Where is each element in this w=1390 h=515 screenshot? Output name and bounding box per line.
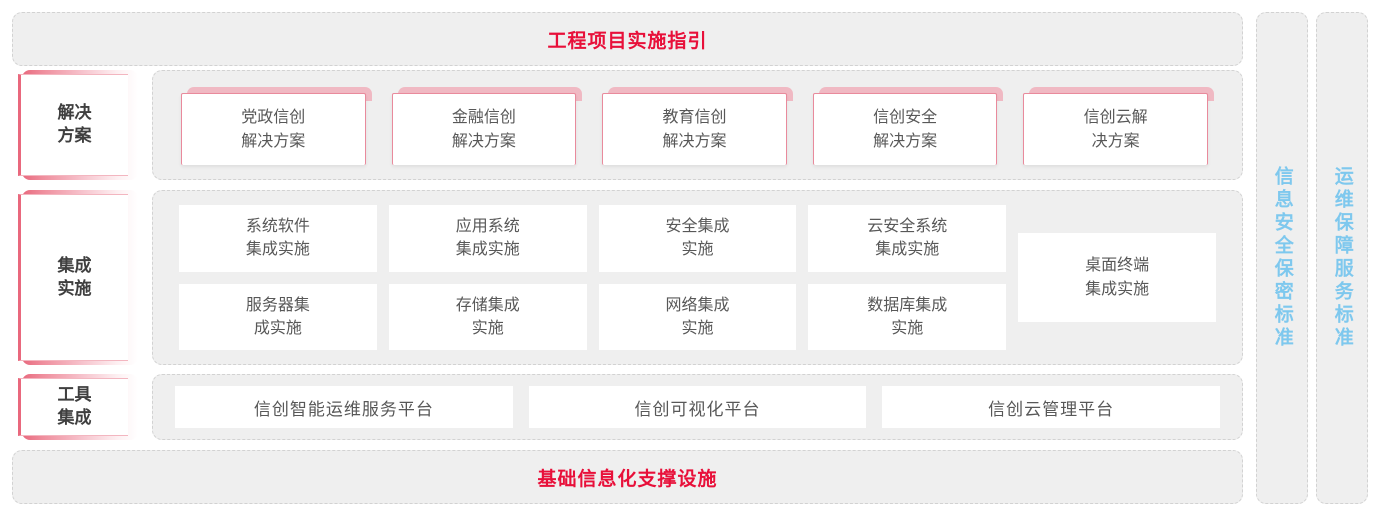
integration-cell[interactable]: 服务器集 成实施 [179, 284, 377, 351]
integration-cell[interactable]: 应用系统 集成实施 [389, 205, 587, 272]
stage-label-integration: 集成 实施 [18, 190, 138, 365]
stage-label-box: 工具 集成 [18, 378, 128, 436]
solution-card-body: 金融信创 解决方案 [392, 93, 577, 165]
stage-label-text: 解决 方案 [58, 102, 92, 148]
top-banner-title: 工程项目实施指引 [547, 26, 707, 53]
integration-column: 应用系统 集成实施 存储集成 实施 [389, 205, 587, 350]
stage-label-solution: 解决 方案 [18, 70, 138, 180]
tools-row: 信创智能运维服务平台 信创可视化平台 信创云管理平台 [175, 386, 1220, 428]
integration-cell[interactable]: 系统软件 集成实施 [179, 205, 377, 272]
stage-label-tools: 工具 集成 [18, 374, 138, 440]
stage-label-box: 解决 方案 [18, 74, 128, 176]
integration-cell-label: 网络集成 实施 [665, 294, 729, 340]
tool-platform-cell[interactable]: 信创可视化平台 [529, 386, 867, 428]
stage-label-text: 工具 集成 [58, 384, 92, 430]
solution-card-label: 党政信创 解决方案 [241, 106, 305, 152]
solution-card[interactable]: 金融信创 解决方案 [392, 87, 583, 165]
solution-card-body: 信创安全 解决方案 [813, 93, 998, 165]
integration-cell[interactable]: 数据库集成 实施 [808, 284, 1006, 351]
tool-platform-cell[interactable]: 信创智能运维服务平台 [175, 386, 513, 428]
solution-card[interactable]: 信创安全 解决方案 [813, 87, 1004, 165]
top-banner: 工程项目实施指引 [12, 12, 1243, 66]
integration-column: 系统软件 集成实施 服务器集 成实施 [179, 205, 377, 350]
integration-cell-desktop-terminal[interactable]: 桌面终端 集成实施 [1018, 233, 1216, 322]
integration-column: 安全集成 实施 网络集成 实施 [599, 205, 797, 350]
solution-card-label: 金融信创 解决方案 [452, 106, 516, 152]
tool-platform-label: 信创智能运维服务平台 [254, 395, 434, 420]
solution-card-label: 信创云解 决方案 [1084, 106, 1148, 152]
integration-cell-label: 存储集成 实施 [456, 294, 520, 340]
solution-card-body: 教育信创 解决方案 [602, 93, 787, 165]
solutions-panel: 党政信创 解决方案 金融信创 解决方案 教育信创 解决方案 信创安全 解决方案 [152, 70, 1243, 180]
diagram-root: 工程项目实施指引 解决 方案 集成 实施 工具 集成 党政信创 解决方案 [0, 0, 1390, 515]
solution-card[interactable]: 教育信创 解决方案 [602, 87, 793, 165]
integration-cell-label: 服务器集 成实施 [246, 294, 310, 340]
solution-card[interactable]: 信创云解 决方案 [1023, 87, 1214, 165]
bottom-banner-title: 基础信息化支撑设施 [537, 464, 717, 491]
solutions-card-row: 党政信创 解决方案 金融信创 解决方案 教育信创 解决方案 信创安全 解决方案 [181, 87, 1214, 165]
integration-cell-label: 数据库集成 实施 [867, 294, 947, 340]
integration-cell-label: 桌面终端 集成实施 [1085, 254, 1149, 300]
integration-cell-label: 系统软件 集成实施 [246, 215, 310, 261]
integration-cell[interactable]: 存储集成 实施 [389, 284, 587, 351]
tool-platform-label: 信创可视化平台 [635, 395, 761, 420]
integration-cell[interactable]: 云安全系统 集成实施 [808, 205, 1006, 272]
side-column-label: 运维保障服务标准 [1327, 166, 1356, 350]
integration-cell-label: 应用系统 集成实施 [456, 215, 520, 261]
integration-panel: 系统软件 集成实施 服务器集 成实施 应用系统 集成实施 存储集成 实施 安全集… [152, 190, 1243, 365]
solution-card[interactable]: 党政信创 解决方案 [181, 87, 372, 165]
solution-card-body: 信创云解 决方案 [1023, 93, 1208, 165]
integration-cell-label: 云安全系统 集成实施 [867, 215, 947, 261]
integration-column-merged: 桌面终端 集成实施 [1018, 205, 1216, 350]
solution-card-body: 党政信创 解决方案 [181, 93, 366, 165]
stage-label-text: 集成 实施 [58, 255, 92, 301]
stage-label-box: 集成 实施 [18, 194, 128, 361]
side-column-label: 信息安全保密标准 [1267, 166, 1296, 350]
side-column-security-standard: 信息安全保密标准 [1256, 12, 1308, 504]
tool-platform-cell[interactable]: 信创云管理平台 [882, 386, 1220, 428]
tools-panel: 信创智能运维服务平台 信创可视化平台 信创云管理平台 [152, 374, 1243, 440]
side-column-ops-standard: 运维保障服务标准 [1316, 12, 1368, 504]
solution-card-label: 信创安全 解决方案 [873, 106, 937, 152]
solution-card-label: 教育信创 解决方案 [662, 106, 726, 152]
integration-grid: 系统软件 集成实施 服务器集 成实施 应用系统 集成实施 存储集成 实施 安全集… [179, 205, 1216, 350]
bottom-banner: 基础信息化支撑设施 [12, 450, 1243, 504]
integration-cell[interactable]: 安全集成 实施 [599, 205, 797, 272]
integration-cell-label: 安全集成 实施 [665, 215, 729, 261]
integration-cell[interactable]: 网络集成 实施 [599, 284, 797, 351]
tool-platform-label: 信创云管理平台 [988, 395, 1114, 420]
integration-column: 云安全系统 集成实施 数据库集成 实施 [808, 205, 1006, 350]
